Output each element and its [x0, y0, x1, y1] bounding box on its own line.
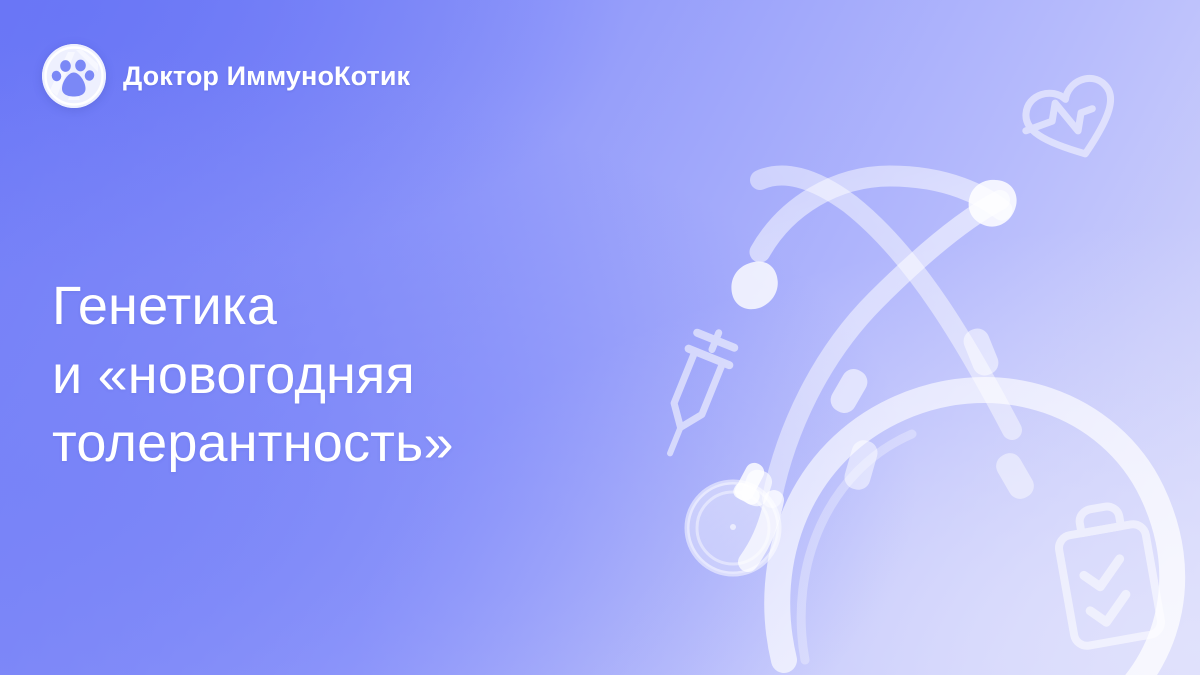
page-title: Генетика и «новогодняя толерантность»: [52, 272, 612, 478]
page-title-line-2: и «новогодняя: [52, 341, 612, 410]
page-title-line-3: толерантность»: [52, 409, 612, 478]
brand-name-label: Доктор ИммуноКотик: [123, 61, 410, 92]
paw-print-badge-icon: [42, 44, 106, 108]
brand-logo[interactable]: Доктор ИммуноКотик: [42, 44, 410, 108]
page-title-line-1: Генетика: [52, 272, 612, 341]
slide-canvas: Доктор ИммуноКотик Генетика и «новогодня…: [0, 0, 1200, 675]
